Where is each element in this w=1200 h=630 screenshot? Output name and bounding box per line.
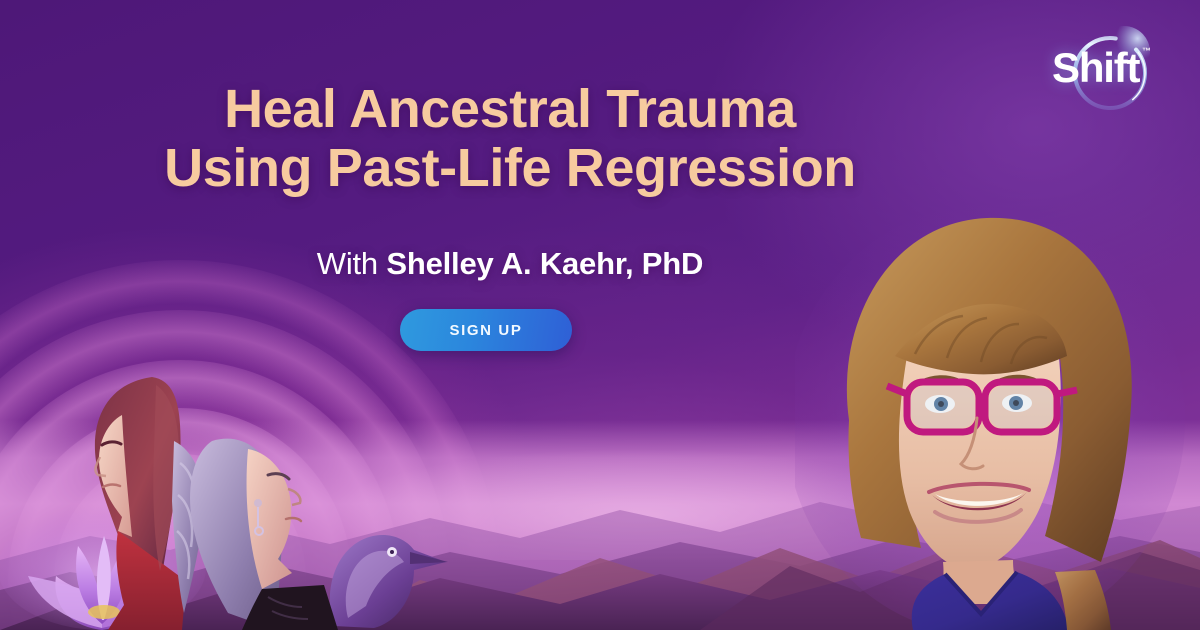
aura-rings-icon [0,250,510,630]
sign-up-button[interactable]: SIGN UP [400,309,572,351]
shift-logo[interactable]: Shift ™ [1038,24,1178,122]
presenter-subtitle: With Shelley A. Kaehr, PhD [130,246,890,282]
headline-line-1: Heal Ancestral Trauma [224,79,796,139]
profile-figures-illustration [62,345,392,630]
page-title: Heal Ancestral Trauma Using Past-Life Re… [130,80,890,198]
trademark-icon: ™ [1142,46,1151,56]
sign-up-label: SIGN UP [450,322,523,339]
background-sky [0,420,1200,630]
presenter-name: Shelley A. Kaehr, PhD [386,246,703,281]
mountain-range-icon [0,440,1200,630]
headline-line-2: Using Past-Life Regression [130,139,890,198]
lotus-flower-icon [0,484,209,630]
speaker-portrait [795,170,1200,630]
raven-icon [318,510,478,630]
shift-logo-text: Shift [1052,44,1139,92]
subtitle-prefix: With [317,246,387,281]
promo-banner: Heal Ancestral Trauma Using Past-Life Re… [0,0,1200,630]
background-sky-haze [330,450,950,560]
